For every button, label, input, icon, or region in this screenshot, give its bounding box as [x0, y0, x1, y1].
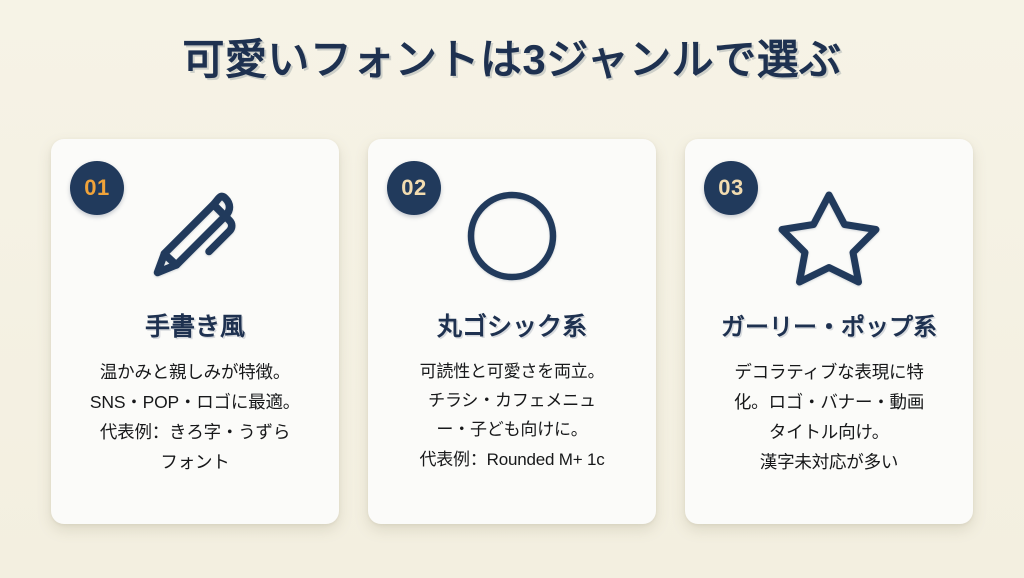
card-description-line: 代表例：Rounded M+ 1c: [388, 445, 636, 474]
card-girly-pop[interactable]: 03 ガーリー・ポップ系 デコラティブな表現に特 化。ロゴ・バナー・動画 タイト…: [685, 139, 973, 524]
card-description: 温かみと親しみが特徴。 SNS・POP・ロゴに最適。 代表例：きろ字・うずら フ…: [51, 357, 339, 477]
card-description-line: 化。ロゴ・バナー・動画: [705, 387, 953, 417]
card-description-line: フォント: [71, 447, 319, 477]
circle-icon: [368, 177, 656, 295]
slide-canvas: 可愛いフォントは3ジャンルで選ぶ 01 手書き風 温かみと親しみが特徴。 SNS…: [0, 0, 1024, 578]
card-description-line: 可読性と可愛さを両立。: [388, 357, 636, 386]
card-row: 01 手書き風 温かみと親しみが特徴。 SNS・POP・ロゴに最適。 代表例：き…: [51, 139, 973, 524]
card-description: 可読性と可愛さを両立。 チラシ・カフェメニュ ー・子ども向けに。 代表例：Rou…: [368, 357, 656, 474]
page-title: 可愛いフォントは3ジャンルで選ぶ: [0, 36, 1024, 84]
card-description-line: SNS・POP・ロゴに最適。: [71, 387, 319, 417]
card-handwritten[interactable]: 01 手書き風 温かみと親しみが特徴。 SNS・POP・ロゴに最適。 代表例：き…: [51, 139, 339, 524]
card-title: ガーリー・ポップ系: [685, 307, 973, 342]
star-icon: [685, 177, 973, 295]
card-description-line: タイトル向け。: [705, 417, 953, 447]
card-title: 手書き風: [51, 307, 339, 343]
card-description: デコラティブな表現に特 化。ロゴ・バナー・動画 タイトル向け。 漢字未対応が多い: [685, 357, 973, 477]
card-description-line: デコラティブな表現に特: [705, 357, 953, 387]
card-description-line: 代表例：きろ字・うずら: [71, 417, 319, 447]
card-description-line: チラシ・カフェメニュ: [388, 386, 636, 415]
card-description-line: ー・子ども向けに。: [388, 415, 636, 444]
card-title: 丸ゴシック系: [368, 307, 656, 343]
card-rounded-gothic[interactable]: 02 丸ゴシック系 可読性と可愛さを両立。 チラシ・カフェメニュ ー・子ども向け…: [368, 139, 656, 524]
card-description-line: 漢字未対応が多い: [705, 447, 953, 477]
pencil-icon: [51, 177, 339, 295]
card-description-line: 温かみと親しみが特徴。: [71, 357, 319, 387]
